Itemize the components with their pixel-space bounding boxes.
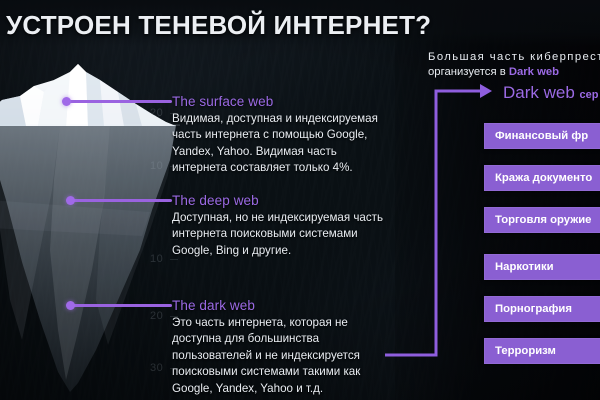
leader-line-dark	[70, 304, 172, 307]
layer-block-deep: The deep web Доступная, но не индексируе…	[172, 193, 386, 259]
intro-highlight-darkweb: Dark web	[509, 66, 559, 78]
page-title: УСТРОЕН ТЕНЕВОЙ ИНТЕРНЕТ?	[6, 10, 431, 41]
layer-heading-deep: The deep web	[172, 193, 386, 208]
dark-web-heading-sub: сер	[580, 89, 599, 101]
leader-dot-surface	[62, 97, 71, 106]
service-chip-document-theft[interactable]: Кража документо	[484, 165, 600, 191]
arrowhead-icon	[480, 84, 492, 98]
iceberg-tip	[0, 64, 176, 126]
layer-heading-surface: The surface web	[172, 94, 386, 109]
leader-line-surface	[66, 100, 172, 103]
dark-web-services-heading: Dark web сер	[503, 83, 599, 103]
leader-dot-dark	[66, 301, 75, 310]
leader-dot-deep	[66, 196, 75, 205]
leader-line-deep	[70, 199, 172, 202]
service-chip-label: Финансовый фр	[484, 130, 588, 142]
service-chip-drugs[interactable]: Наркотики	[484, 254, 600, 280]
service-chip-label: Терроризм	[484, 345, 556, 357]
layer-block-dark: The dark web Это часть интернета, котора…	[172, 298, 386, 397]
service-chip-label: Кража документо	[484, 172, 592, 184]
dark-web-heading-main: Dark web	[503, 83, 575, 102]
layer-body-surface: Видимая, доступная и индексируемая часть…	[172, 111, 386, 177]
service-chip-label: Порнография	[484, 303, 572, 315]
waterline	[0, 125, 180, 126]
service-chip-pornography[interactable]: Порнография	[484, 296, 600, 322]
service-chip-label: Торговля оружие	[484, 214, 591, 226]
layer-body-deep: Доступная, но не индексируемая часть инт…	[172, 210, 386, 259]
service-chip-financial-fraud[interactable]: Финансовый фр	[484, 123, 600, 149]
iceberg-submerged	[0, 125, 176, 392]
infographic-canvas: 30 20 10 10 20 30	[0, 0, 600, 400]
layer-heading-dark: The dark web	[172, 298, 386, 313]
layer-body-dark: Это часть интернета, которая не доступна…	[172, 315, 386, 397]
layer-block-surface: The surface web Видимая, доступная и инд…	[172, 94, 386, 177]
service-chip-weapons-trade[interactable]: Торговля оружие	[484, 207, 600, 233]
service-chip-terrorism[interactable]: Терроризм	[484, 338, 600, 364]
service-chip-label: Наркотики	[484, 261, 554, 273]
